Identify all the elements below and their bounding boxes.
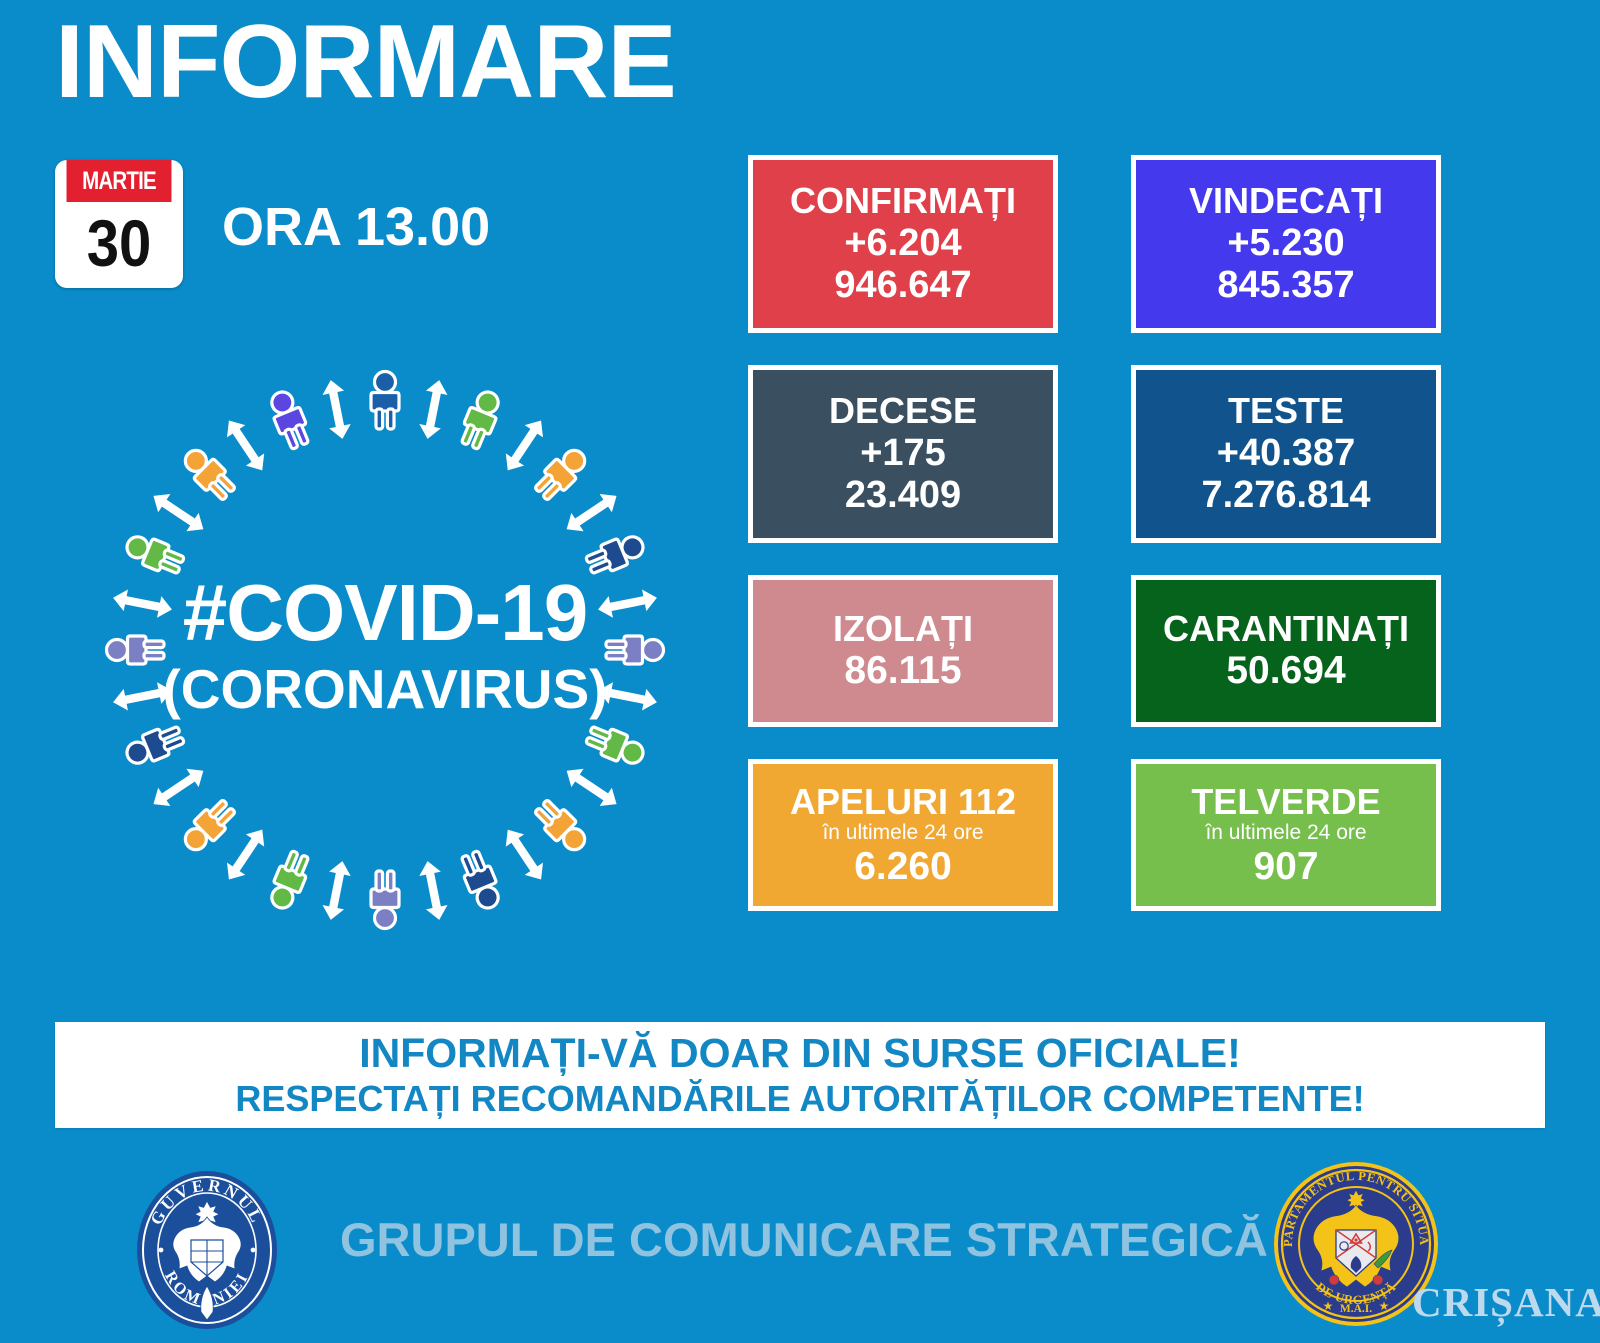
stat-card-telverde[interactable]: TELVERDE în ultimele 24 ore 907 xyxy=(1131,759,1441,911)
stat-card-decese[interactable]: DECESE +175 23.409 xyxy=(748,365,1058,543)
stat-label: CONFIRMAȚI xyxy=(790,181,1016,221)
stat-label: IZOLAȚI xyxy=(833,609,973,649)
stat-label: TESTE xyxy=(1228,391,1344,431)
stat-total: 7.276.814 xyxy=(1201,474,1370,517)
stat-delta: +5.230 xyxy=(1227,222,1344,265)
notice-line-1: INFORMAȚI-VĂ DOAR DIN SURSE OFICIALE! xyxy=(359,1031,1240,1076)
dsu-logo-mai-text: M.A.I. xyxy=(1340,1303,1372,1315)
calendar-month: MARTIE xyxy=(67,160,172,202)
footer-title: GRUPUL DE COMUNICARE STRATEGICĂ xyxy=(340,1212,1268,1267)
dsu-star-right: ★ xyxy=(1379,1299,1390,1313)
stat-label: CARANTINAȚI xyxy=(1163,609,1409,649)
stat-label: DECESE xyxy=(829,391,977,431)
stat-delta: +6.204 xyxy=(844,222,961,265)
stat-total: 50.694 xyxy=(1226,649,1345,693)
stats-grid: CONFIRMAȚI +6.204 946.647 VINDECAȚI +5.2… xyxy=(748,155,1493,955)
page-title: INFORMARE xyxy=(55,8,676,117)
stat-sublabel: în ultimele 24 ore xyxy=(1205,821,1366,845)
notice-line-2: RESPECTAȚI RECOMANDĂRILE AUTORITĂȚILOR C… xyxy=(235,1079,1364,1119)
stat-delta: +175 xyxy=(860,432,946,475)
stat-sublabel: în ultimele 24 ore xyxy=(822,821,983,845)
stat-card-confirmati[interactable]: CONFIRMAȚI +6.204 946.647 xyxy=(748,155,1058,333)
stat-total: 86.115 xyxy=(844,649,961,693)
stat-label: VINDECAȚI xyxy=(1189,181,1383,221)
dsu-star-left: ★ xyxy=(1323,1299,1334,1313)
covid-hashtag-text: #COVID-19 xyxy=(183,568,587,657)
stat-label: APELURI 112 xyxy=(790,782,1016,822)
stat-total: 845.357 xyxy=(1217,264,1354,307)
time-label: ORA 13.00 xyxy=(222,196,490,258)
stat-total: 6.260 xyxy=(854,845,952,889)
stat-card-vindecati[interactable]: VINDECAȚI +5.230 845.357 xyxy=(1131,155,1441,333)
stat-card-apeluri-112[interactable]: APELURI 112 în ultimele 24 ore 6.260 xyxy=(748,759,1058,911)
stat-total: 946.647 xyxy=(834,264,971,307)
stat-card-teste[interactable]: TESTE +40.387 7.276.814 xyxy=(1131,365,1441,543)
crisana-label: CRIȘANA xyxy=(1412,1278,1600,1326)
stat-card-izolati[interactable]: IZOLAȚI 86.115 xyxy=(748,575,1058,727)
calendar-day: 30 xyxy=(63,202,176,288)
stat-total: 907 xyxy=(1253,845,1318,889)
stat-card-carantinati[interactable]: CARANTINAȚI 50.694 xyxy=(1131,575,1441,727)
covid-circle-graphic: #COVID-19 (CORONAVIRUS) xyxy=(60,330,710,970)
stat-delta: +40.387 xyxy=(1217,432,1355,475)
notice-banner: INFORMAȚI-VĂ DOAR DIN SURSE OFICIALE! RE… xyxy=(55,1022,1545,1128)
guvernul-romaniei-logo: GUVERNUL ROMÂNIEI xyxy=(133,1168,281,1333)
covid-subtitle-text: (CORONAVIRUS) xyxy=(162,658,607,720)
stat-label: TELVERDE xyxy=(1191,782,1380,822)
calendar-icon: MARTIE 30 xyxy=(55,160,183,288)
stat-total: 23.409 xyxy=(845,474,961,517)
